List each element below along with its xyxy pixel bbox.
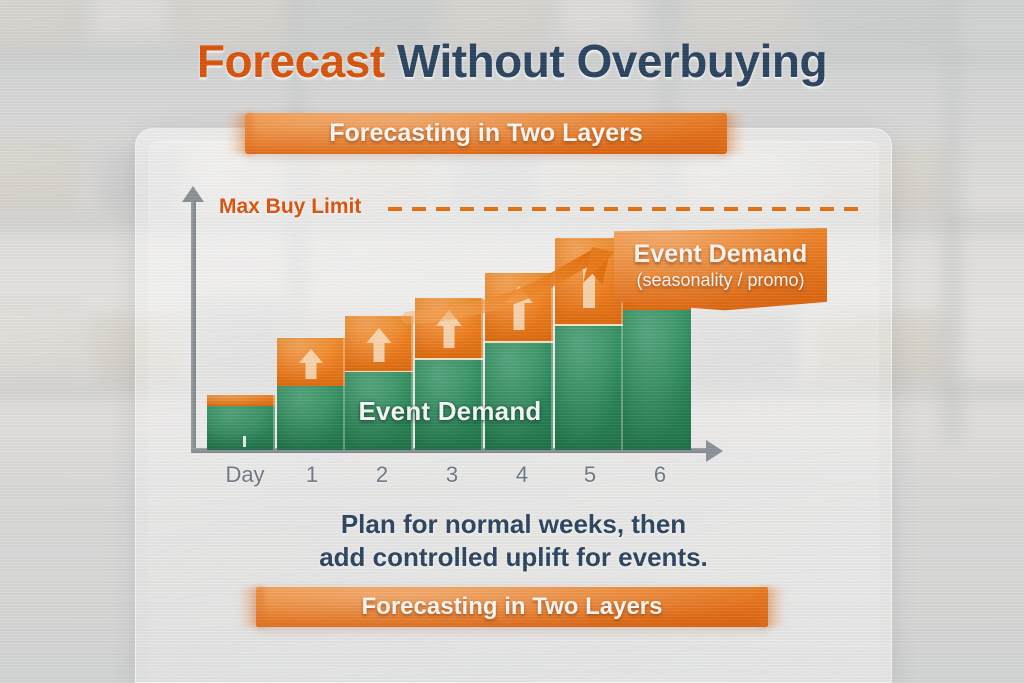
callout-text: Event Demand (seasonality / promo)	[614, 228, 827, 312]
caption-line-1: Plan for normal weeks, then	[135, 508, 892, 541]
infographic-slide: Forecast Without Overbuying Forecasting …	[0, 0, 1024, 683]
caption-line-2: add controlled uplift for events.	[135, 541, 892, 574]
callout-title: Event Demand	[634, 241, 808, 267]
x-axis-label: 1	[272, 462, 352, 488]
bottom-banner: Forecasting in Two Layers	[256, 587, 768, 627]
event-demand-callout: Event Demand (seasonality / promo)	[614, 228, 827, 312]
bottom-banner-label: Forecasting in Two Layers	[362, 593, 663, 621]
forecast-chart: Max Buy Limit	[0, 0, 1024, 683]
axis-tick	[243, 436, 246, 447]
x-axis-label: 2	[342, 462, 422, 488]
trend-arrow-icon	[0, 0, 1024, 683]
x-axis-label: 6	[620, 462, 700, 488]
callout-subtitle: (seasonality / promo)	[636, 270, 804, 291]
base-layer-label: Event Demand	[191, 396, 709, 427]
x-axis-label: 5	[550, 462, 630, 488]
x-axis-label: 3	[412, 462, 492, 488]
caption: Plan for normal weeks, then add controll…	[135, 508, 892, 575]
